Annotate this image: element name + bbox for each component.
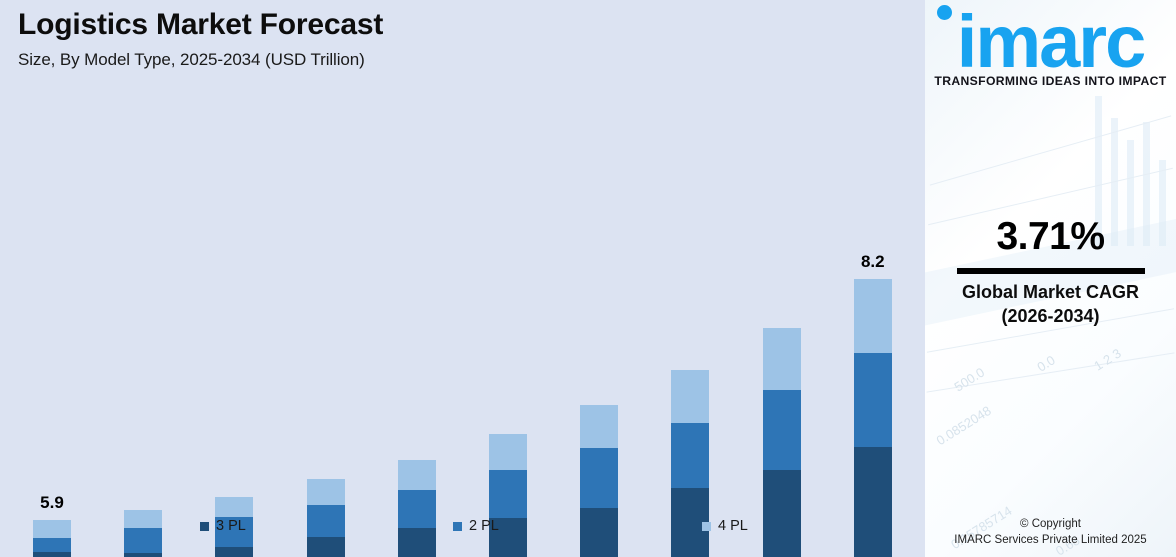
chart-subtitle: Size, By Model Type, 2025-2034 (USD Tril…	[18, 50, 383, 70]
legend-swatch-icon	[453, 522, 462, 531]
chart-infographic: Logistics Market Forecast Size, By Model…	[0, 0, 1176, 557]
legend-swatch-icon	[702, 522, 711, 531]
cagr-callout: 3.71% Global Market CAGR (2026-2034)	[925, 215, 1176, 327]
bar-segment-3pl-2027[interactable]	[215, 547, 253, 557]
copyright-notice: © Copyright IMARC Services Private Limit…	[925, 516, 1176, 549]
chart-header: Logistics Market Forecast Size, By Model…	[18, 8, 383, 70]
bar-segment-4pl-2031[interactable]	[580, 405, 618, 448]
chart-legend: 3 PL2 PL4 PL	[0, 518, 925, 544]
legend-label: 3 PL	[216, 518, 246, 534]
bar-segment-4pl-2034[interactable]	[854, 279, 892, 353]
bar-segment-3pl-2026[interactable]	[124, 553, 162, 557]
bar-segment-4pl-2032[interactable]	[671, 370, 709, 423]
legend-item-4pl[interactable]: 4 PL	[702, 518, 748, 534]
bar-value-label-2034: 8.2	[838, 252, 908, 272]
divider	[957, 268, 1145, 274]
copyright-line-1: © Copyright	[925, 516, 1176, 533]
bar-segment-2pl-2034[interactable]	[854, 353, 892, 447]
bar-segment-4pl-2027[interactable]	[215, 497, 253, 517]
page-title: Logistics Market Forecast	[18, 8, 383, 43]
legend-item-3pl[interactable]: 3 PL	[200, 518, 246, 534]
bar-segment-2pl-2032[interactable]	[671, 423, 709, 488]
legend-label: 2 PL	[469, 518, 499, 534]
copyright-line-2: IMARC Services Private Limited 2025	[925, 532, 1176, 549]
bar-segment-3pl-2025[interactable]	[33, 552, 71, 557]
logo-wordmark: imarc	[957, 8, 1144, 76]
logo-dot-icon	[937, 5, 952, 20]
cagr-value: 3.71%	[925, 215, 1176, 259]
bar-segment-4pl-2030[interactable]	[489, 434, 527, 470]
bar-segment-4pl-2029[interactable]	[398, 460, 436, 490]
bar-segment-2pl-2031[interactable]	[580, 448, 618, 508]
bar-value-label-2025: 5.9	[17, 493, 87, 513]
bar-segment-4pl-2028[interactable]	[307, 479, 345, 505]
legend-swatch-icon	[200, 522, 209, 531]
cagr-caption-primary: Global Market CAGR	[925, 282, 1176, 303]
bar-segment-2pl-2030[interactable]	[489, 470, 527, 518]
bar-segment-2pl-2033[interactable]	[763, 390, 801, 470]
legend-item-2pl[interactable]: 2 PL	[453, 518, 499, 534]
cagr-caption-period: (2026-2034)	[925, 306, 1176, 327]
plot-area: 2025202620272028202920302031203220332034…	[0, 120, 925, 464]
imarc-logo: imarc TRANSFORMING IDEAS INTO IMPACT	[925, 8, 1176, 88]
bar-segment-4pl-2033[interactable]	[763, 328, 801, 390]
brand-panel: 500.0 0.0 1 2 3 0.0852048 0.15785714 0.6…	[925, 0, 1176, 557]
chart-panel: Logistics Market Forecast Size, By Model…	[0, 0, 925, 557]
bar-2034[interactable]	[854, 279, 892, 557]
legend-label: 4 PL	[718, 518, 748, 534]
